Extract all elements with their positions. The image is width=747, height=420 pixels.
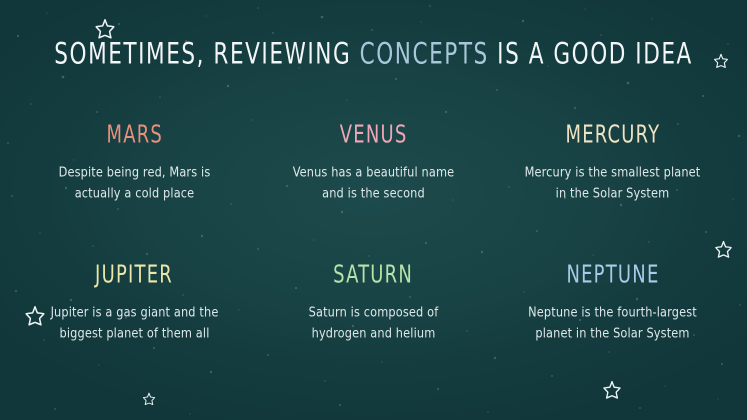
planet-body-mercury: Mercury is the smallest planet in the So… (504, 162, 721, 204)
planet-body-line: biggest planet of them all (59, 325, 209, 341)
planet-body-line: actually a cold place (75, 185, 195, 201)
planet-card-grid: MARS Despite being red, Mars is actually… (18, 122, 729, 402)
planet-body-line: Venus has a beautiful name (293, 164, 455, 180)
planet-body-saturn: Saturn is composed of hydrogen and heliu… (265, 302, 482, 344)
planet-card-mercury: MERCURY Mercury is the smallest planet i… (496, 122, 729, 262)
page-title-segment-2: IS A GOOD IDEA (489, 37, 693, 71)
planet-title-neptune: NEPTUNE (566, 262, 659, 287)
planet-card-mars: MARS Despite being red, Mars is actually… (18, 122, 251, 262)
planet-body-line: in the Solar System (556, 185, 670, 201)
planet-body-line: Mercury is the smallest planet (525, 164, 701, 180)
planet-title-jupiter: JUPITER (96, 262, 174, 287)
slide-canvas: SOMETIMES, REVIEWING CONCEPTS IS A GOOD … (0, 0, 747, 420)
planet-body-line: Saturn is composed of (309, 304, 439, 320)
page-title: SOMETIMES, REVIEWING CONCEPTS IS A GOOD … (0, 39, 747, 65)
planet-body-jupiter: Jupiter is a gas giant and the biggest p… (26, 302, 243, 344)
planet-title-mercury: MERCURY (565, 122, 660, 147)
planet-body-mars: Despite being red, Mars is actually a co… (26, 162, 243, 204)
planet-card-jupiter: JUPITER Jupiter is a gas giant and the b… (18, 262, 251, 402)
planet-body-line: Jupiter is a gas giant and the (51, 304, 219, 320)
planet-body-line: planet in the Solar System (535, 325, 689, 341)
planet-card-neptune: NEPTUNE Neptune is the fourth-largest pl… (496, 262, 729, 402)
planet-body-line: Neptune is the fourth-largest (528, 304, 697, 320)
planet-body-line: Despite being red, Mars is (59, 164, 211, 180)
planet-body-line: and is the second (322, 185, 425, 201)
planet-card-saturn: SATURN Saturn is composed of hydrogen an… (257, 262, 490, 402)
planet-body-line: hydrogen and helium (312, 325, 436, 341)
page-title-text: SOMETIMES, REVIEWING CONCEPTS IS A GOOD … (54, 39, 693, 68)
page-title-segment-1: SOMETIMES, REVIEWING (54, 37, 359, 71)
planet-card-venus: VENUS Venus has a beautiful name and is … (257, 122, 490, 262)
planet-title-venus: VENUS (340, 122, 408, 147)
planet-body-venus: Venus has a beautiful name and is the se… (265, 162, 482, 204)
planet-title-mars: MARS (106, 122, 163, 147)
planet-title-saturn: SATURN (334, 262, 414, 287)
page-title-accent-word: CONCEPTS (360, 37, 489, 71)
planet-body-neptune: Neptune is the fourth-largest planet in … (504, 302, 721, 344)
